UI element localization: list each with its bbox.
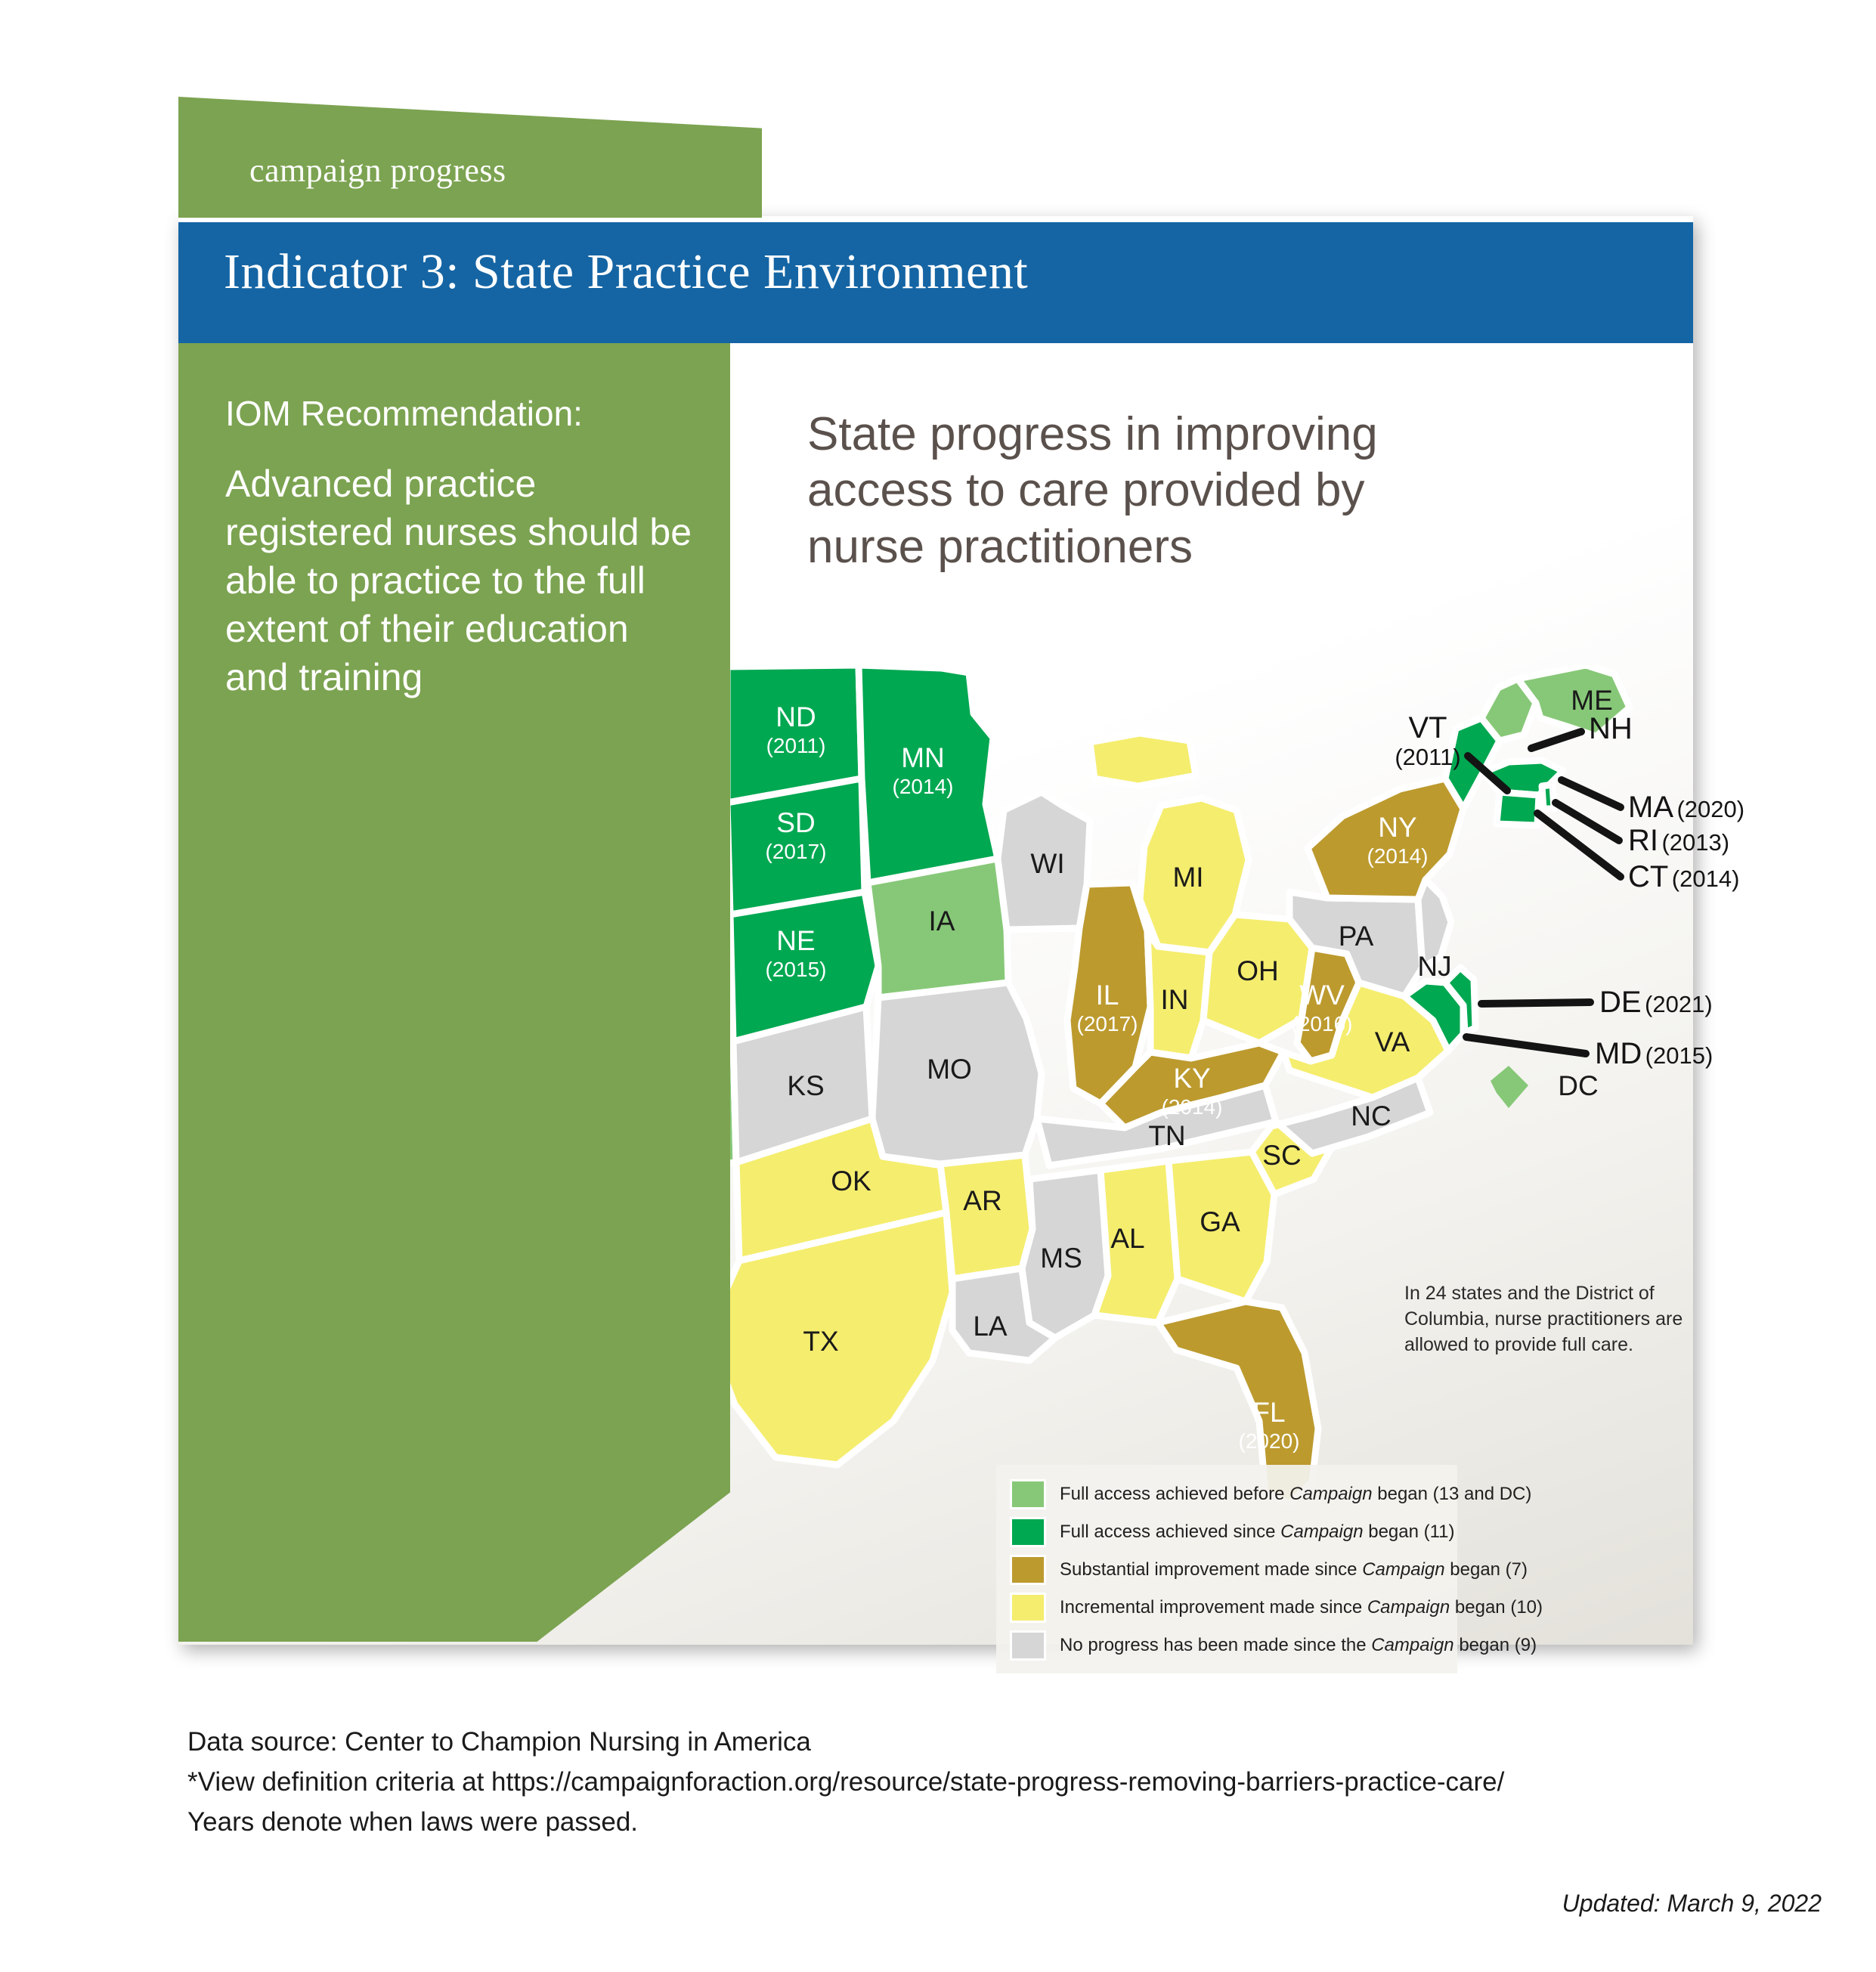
callout-label-MA: MA (2020) [1628,791,1744,825]
state-NJ [1418,880,1451,967]
state-NY [1308,779,1463,899]
state-MN [859,665,998,883]
legend-row: No progress has been made since the Camp… [996,1627,1457,1664]
page-title: Indicator 3: State Practice Environment [224,243,1028,301]
legend-text-full-since: Full access achieved since Campaign bega… [1060,1522,1455,1543]
legend-row: Full access achieved since Campaign bega… [996,1513,1457,1551]
state-AR [940,1155,1032,1279]
map-legend: Full access achieved before Campaign beg… [996,1465,1457,1673]
state-MO [872,983,1042,1164]
legend-row: Full access achieved before Campaign beg… [996,1475,1457,1513]
leader-MD [1466,1037,1586,1054]
state-WI [998,792,1090,930]
legend-swatch-none [1010,1630,1046,1661]
legend-swatch-substantial [1010,1555,1046,1585]
infographic-root: WA OR MT ID WY NV(2013) UT(2016) CA(2020… [0,0,1876,1972]
legend-row: Substantial improvement made since Campa… [996,1551,1457,1589]
callout-label-VT: VT(2011) [1371,712,1484,770]
state-IN [1147,931,1209,1058]
campaign-progress-label: campaign progress [249,151,506,190]
callout-label-CT: CT (2014) [1628,860,1739,894]
state-CT [1497,792,1539,825]
legend-swatch-full-before [1010,1479,1046,1509]
leader-DE [1481,1002,1590,1004]
state-OH [1203,915,1312,1043]
state-MI-up [1090,733,1196,786]
title-bar: Indicator 3: State Practice Environment [178,222,1693,343]
legend-text-substantial: Substantial improvement made since Campa… [1060,1559,1528,1580]
leader-MA [1562,780,1621,807]
legend-text-full-before: Full access achieved before Campaign beg… [1060,1484,1531,1505]
callout-label-NH: NH [1589,712,1633,746]
state-GA [1169,1152,1274,1302]
footer-line-2: *View definition criteria at https://cam… [187,1762,1504,1802]
full-care-note: In 24 states and the District of Columbi… [1404,1281,1686,1357]
legend-text-none: No progress has been made since the Camp… [1060,1635,1537,1656]
callout-label-DE: DE (2021) [1599,986,1713,1020]
state-IA [868,859,1008,998]
legend-row: Incremental improvement made since Campa… [996,1589,1457,1627]
leader-NH [1531,732,1581,748]
callout-label-MD: MD (2015) [1595,1037,1713,1071]
footer-line-1: Data source: Center to Champion Nursing … [187,1722,1504,1762]
state-AL [1094,1161,1178,1323]
footer: Data source: Center to Champion Nursing … [187,1722,1504,1843]
leader-CT [1537,813,1621,877]
footer-line-3: Years denote when laws were passed. [187,1802,1504,1842]
iom-kicker: IOM Recommendation: [225,393,583,434]
legend-swatch-full-since [1010,1517,1046,1547]
callout-label-RI: RI (2013) [1628,824,1729,858]
iom-text: Advanced practice registered nurses shou… [225,460,694,701]
state-RI [1542,785,1554,809]
map-heading: State progress in improving access to ca… [807,407,1487,575]
legend-text-incremental: Incremental improvement made since Campa… [1060,1597,1543,1618]
legend-swatch-incremental [1010,1593,1046,1623]
state-DC [1491,1066,1528,1108]
updated-stamp: Updated: March 9, 2022 [1562,1890,1822,1918]
